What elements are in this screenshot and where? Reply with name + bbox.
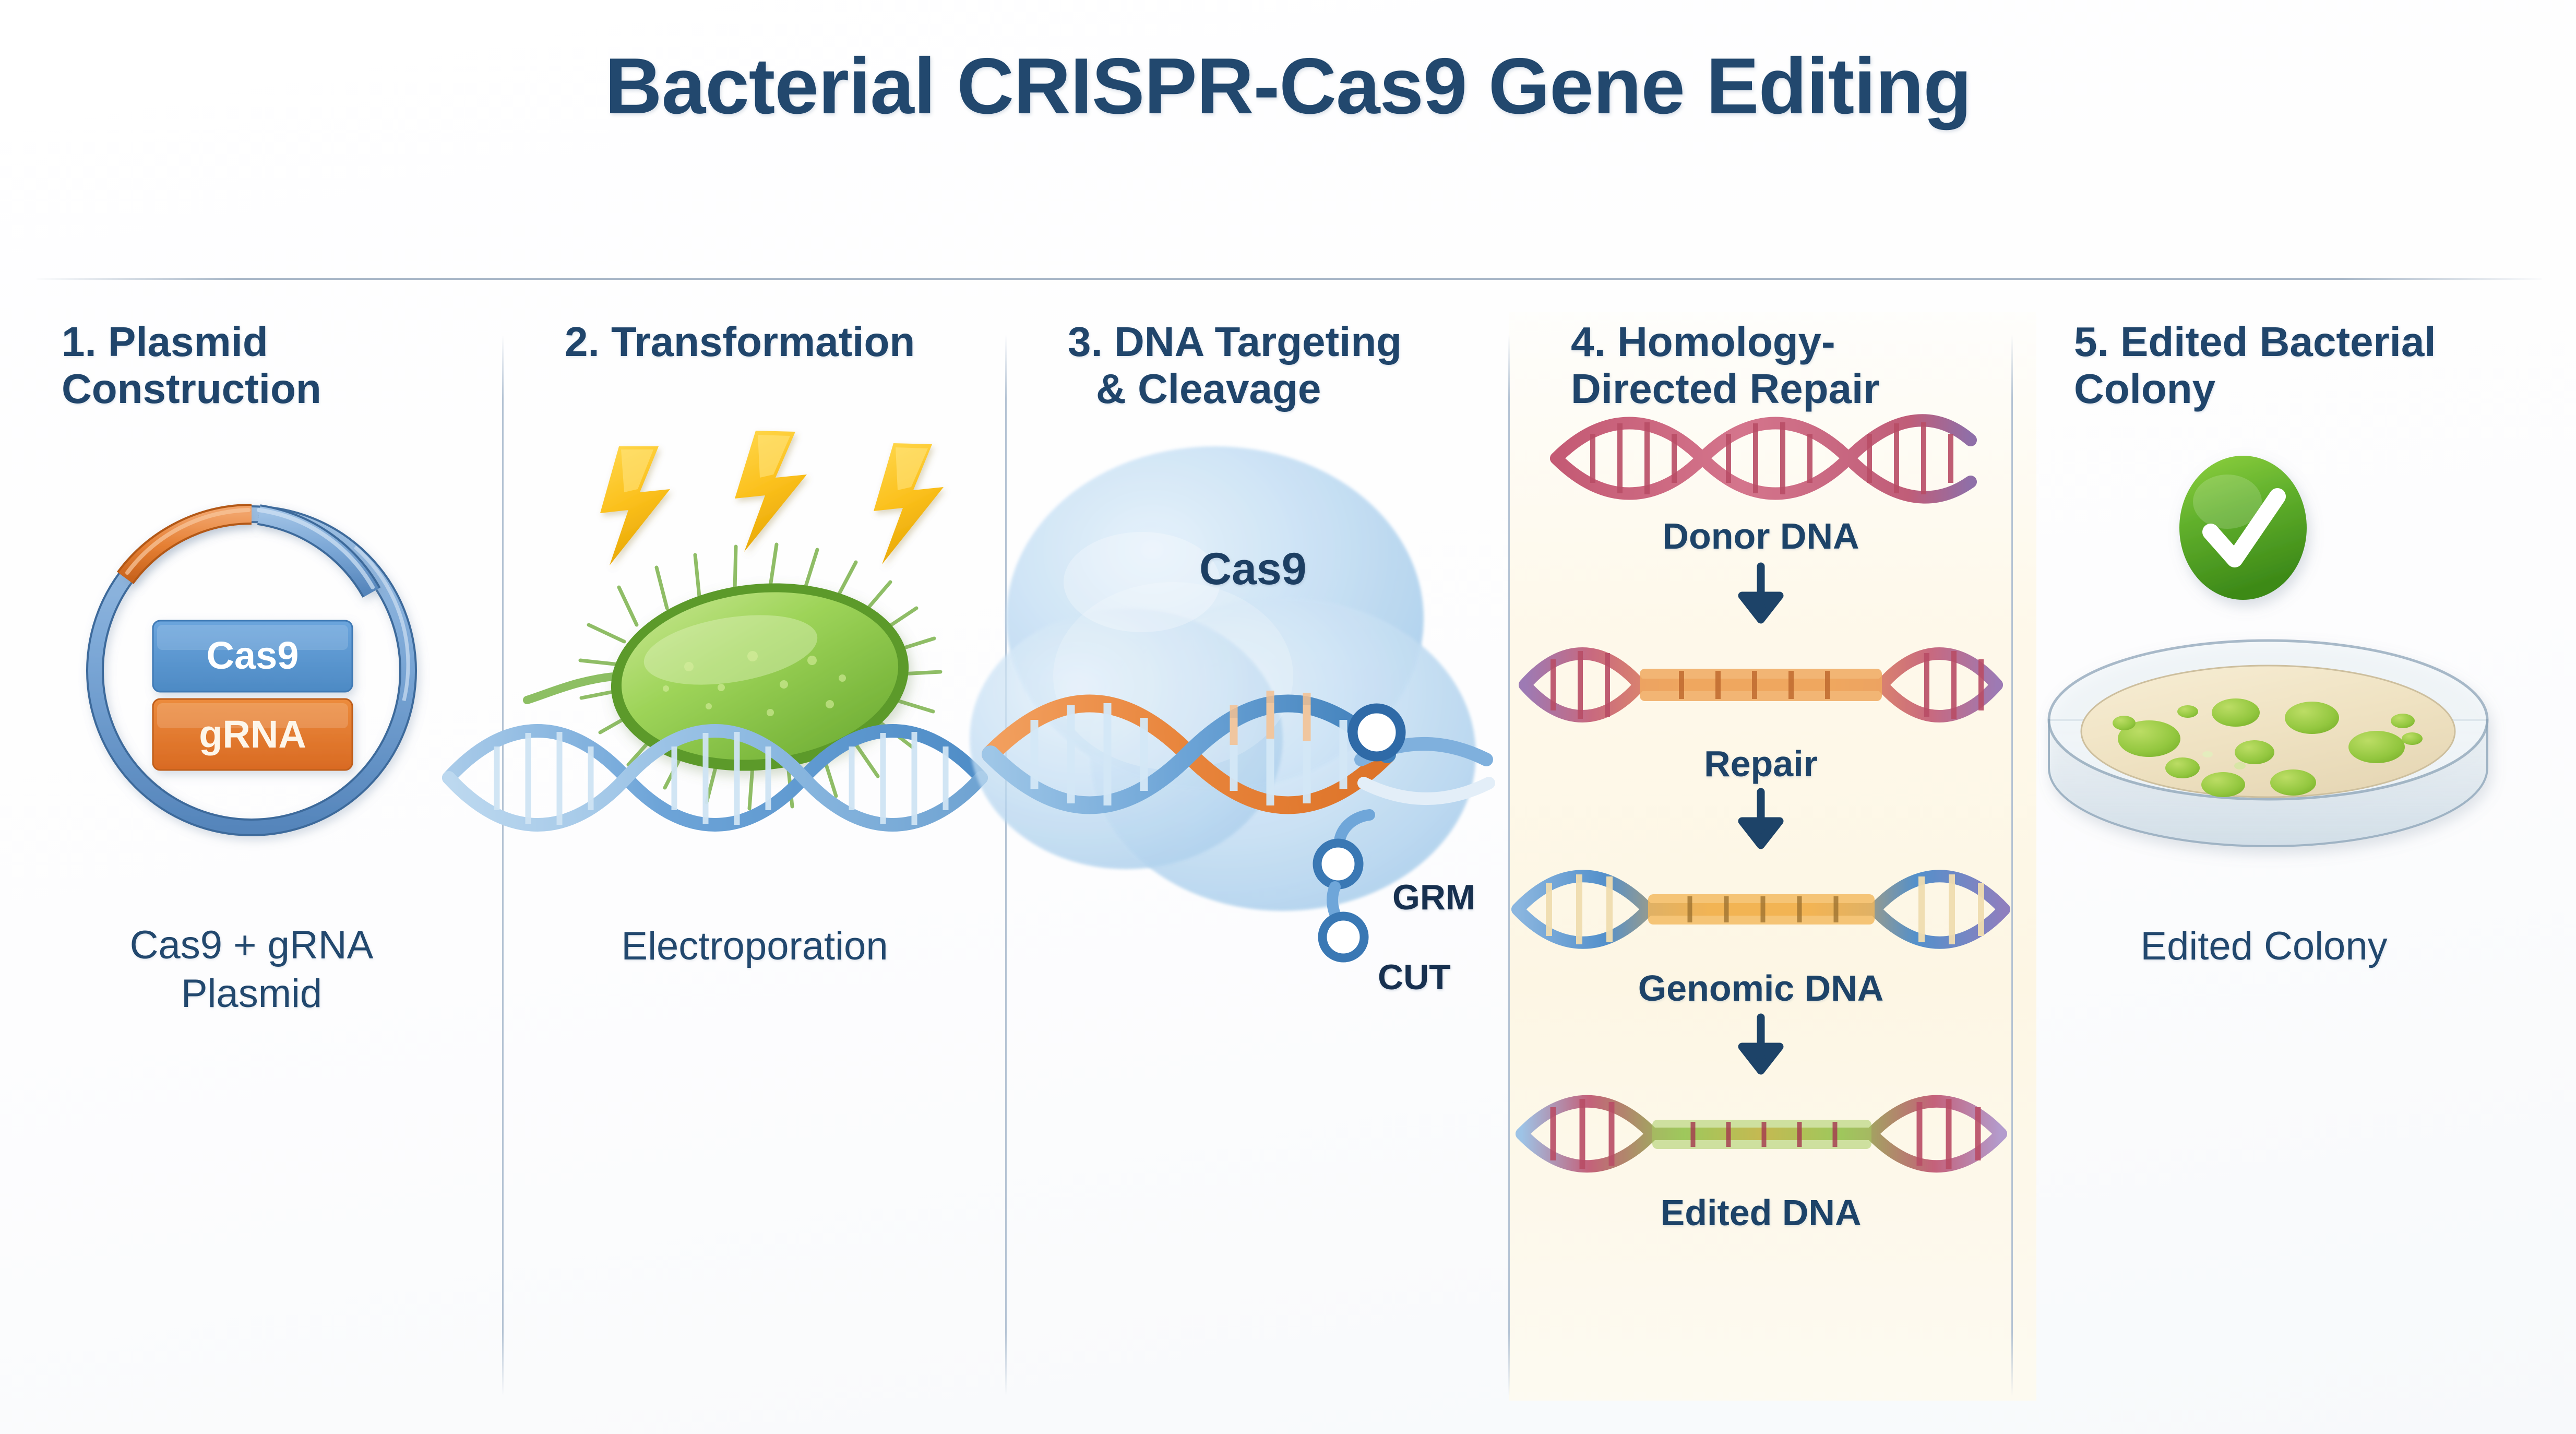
panel-2-heading-line1: Transformation (611, 318, 915, 365)
hdr-label-donor-dna: Donor DNA (1509, 515, 2012, 557)
panel-homology-directed-repair: 4. Homology- Directed Repair (1509, 279, 2012, 1434)
hdr-arrow-3 (1735, 1016, 1787, 1075)
hdr-label-repair: Repair (1509, 743, 2012, 785)
panel-3-number: 3. (1068, 318, 1103, 365)
panel-4-heading-line1: Homology- (1617, 318, 1835, 365)
petri-dish (2049, 641, 2487, 846)
page-title: Bacterial CRISPR-Cas9 Gene Editing (0, 41, 2576, 132)
gene-label-cas9: Cas9 (207, 634, 299, 677)
panel-4-heading: 4. Homology- Directed Repair (1571, 318, 1999, 413)
lightning-bolt-icon-center (735, 431, 807, 552)
panel-5-number: 5. (2074, 318, 2109, 365)
hdr-donor-helix (1509, 404, 2012, 513)
panel-1-caption: Cas9 + gRNA Plasmid (0, 921, 503, 1018)
plasmid-grna-arc-segment (125, 510, 252, 578)
scissors-handle-upper (1353, 708, 1401, 756)
panel-5-heading: 5. Edited Bacterial Colony (2074, 318, 2502, 413)
cas9-complex-diagram: Cas9 GRM CUT (923, 394, 1612, 1010)
dna-double-helix-left (449, 731, 981, 825)
panel-3-heading-line1: DNA Targeting (1114, 318, 1402, 365)
hdr-edited-helix (1509, 1079, 2012, 1189)
panel-5-heading-line1: Edited Bacterial (2120, 318, 2436, 365)
gene-label-grna: gRNA (199, 713, 306, 756)
hdr-arrow-1 (1735, 565, 1787, 624)
label-cas9: Cas9 (1199, 543, 1307, 595)
panel-5-caption-line1: Edited Colony (2012, 922, 2515, 971)
hdr-label-genomic-dna: Genomic DNA (1509, 967, 2012, 1009)
panel-1-caption-line2: Plasmid (0, 970, 503, 1018)
cas9-protein-blob (970, 446, 1476, 911)
panel-1-heading-line2: Construction (62, 365, 490, 412)
panel-edited-bacterial-colony: 5. Edited Bacterial Colony (2012, 279, 2515, 1434)
success-check-icon (2179, 456, 2307, 600)
lightning-bolt-icon-left (600, 446, 670, 565)
panel-1-heading-line1: Plasmid (108, 318, 268, 365)
scissors-handle-lower-1 (1317, 843, 1359, 885)
hdr-repair-helix (1509, 630, 2012, 740)
label-cut: CUT (1378, 957, 1451, 998)
panel-5-heading-line2: Colony (2074, 365, 2502, 412)
panel-5-caption: Edited Colony (2012, 922, 2515, 971)
panel-2-heading: 2. Transformation (565, 318, 993, 365)
title-bar: Bacterial CRISPR-Cas9 Gene Editing (0, 0, 2576, 279)
scissors-handle-lower-2 (1322, 916, 1364, 958)
panel-plasmid-construction: 1. Plasmid Construction (0, 279, 503, 1434)
hdr-label-edited-dna: Edited DNA (1509, 1192, 2012, 1234)
panel-1-caption-line1: Cas9 + gRNA (0, 921, 503, 970)
hdr-arrow-2 (1735, 791, 1787, 849)
label-grm: GRM (1392, 877, 1475, 918)
panel-2-number: 2. (565, 318, 600, 365)
panel-dna-targeting-cleavage: 3. DNA Targeting & Cleavage (1006, 279, 1509, 1434)
panel-4-number: 4. (1571, 318, 1606, 365)
panel-1-heading: 1. Plasmid Construction (62, 318, 490, 413)
plasmid-diagram: Cas9 gRNA (62, 481, 442, 861)
panel-1-number: 1. (62, 318, 97, 365)
hdr-genomic-helix (1509, 855, 2012, 964)
petri-dish-diagram (2028, 430, 2508, 847)
